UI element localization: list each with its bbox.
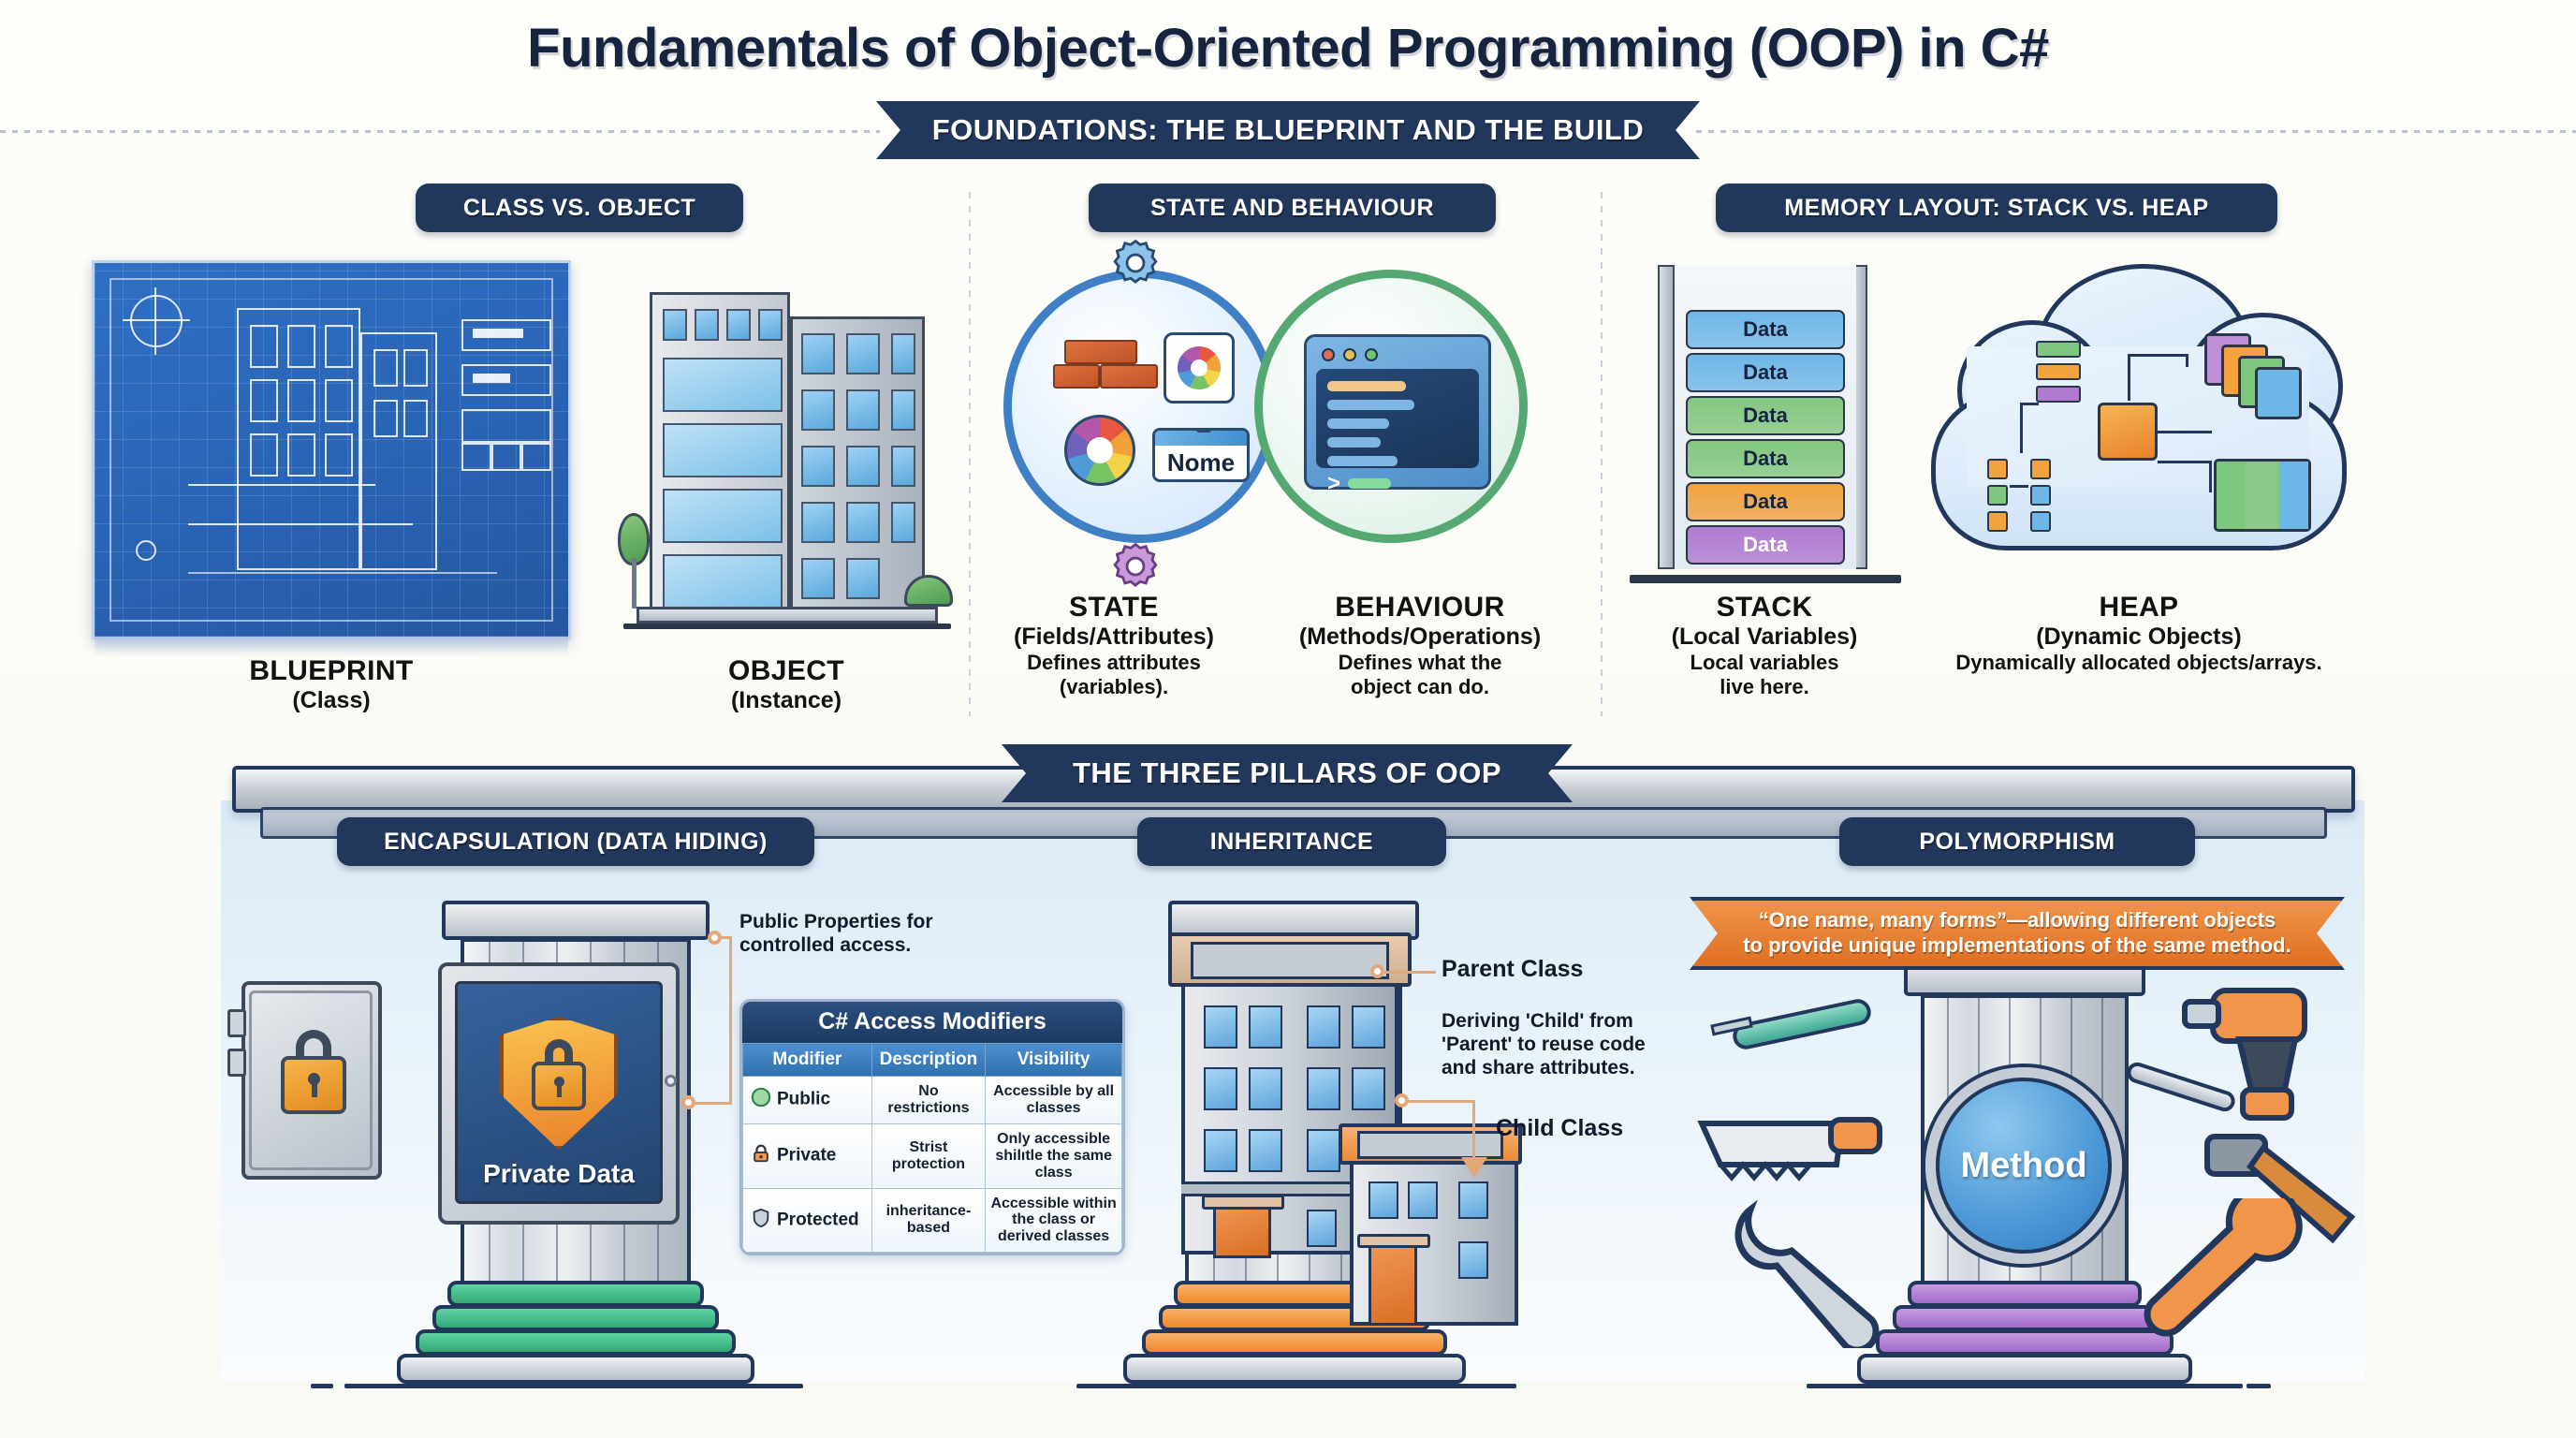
pillar-heading-inheritance: INHERITANCE xyxy=(1137,817,1446,866)
method-badge: Method xyxy=(1925,1067,2122,1264)
access-modifiers-table: C# Access Modifiers Modifier Description… xyxy=(739,999,1125,1255)
leader-line xyxy=(693,1102,732,1105)
caption-object: OBJECT (Instance) xyxy=(618,655,955,714)
name-badge-icon: Nome xyxy=(1152,428,1250,482)
cell-visibility: Accessible within the class or derived c… xyxy=(986,1188,1122,1253)
color-wheel-icon xyxy=(1064,415,1135,486)
private-data-label: Private Data xyxy=(438,1159,680,1189)
stack-block: Data xyxy=(1686,396,1845,435)
leader-knob xyxy=(1395,1093,1409,1108)
cell-description: inheritance-based xyxy=(871,1188,986,1253)
caption-stack: STACK (Local Variables) Local variables … xyxy=(1629,592,1900,698)
dotted-rule-right xyxy=(1696,130,2576,133)
code-window-icon: > xyxy=(1304,334,1491,490)
caption-blueprint: BLUEPRINT (Class) xyxy=(92,655,571,714)
cell-modifier: Public xyxy=(743,1077,872,1124)
table-row: Protected inheritance-based Accessible w… xyxy=(743,1188,1122,1253)
callout-public-properties: Public Properties for controlled access. xyxy=(739,910,1011,957)
cell-modifier: Private xyxy=(743,1123,872,1188)
stack-block: Data xyxy=(1686,353,1845,392)
banner-three-pillars: THE THREE PILLARS OF OOP xyxy=(1002,744,1573,802)
caption-behaviour: BEHAVIOUR (Methods/Operations) Defines w… xyxy=(1266,592,1574,698)
stack-block: Data xyxy=(1686,525,1845,565)
cell-visibility: Accessible by all classes xyxy=(986,1077,1122,1124)
callout-inheritance-desc: Deriving 'Child' from 'Parent' to reuse … xyxy=(1442,1009,1722,1080)
pillar-heading-encapsulation: ENCAPSULATION (DATA HIDING) xyxy=(337,817,814,866)
gear-icon xyxy=(1109,540,1162,593)
parent-door xyxy=(1213,1206,1271,1258)
caption-state: STATE (Fields/Attributes) Defines attrib… xyxy=(973,592,1254,698)
callout-child-class: Child Class xyxy=(1496,1114,1720,1142)
polymorphism-ribbon: “One name, many forms”—allowing differen… xyxy=(1690,897,2345,970)
leader-line xyxy=(1408,1100,1475,1103)
section-heading-state-and-behaviour: STATE AND BEHAVIOUR xyxy=(1089,183,1496,232)
section-heading-memory-layout: MEMORY LAYOUT: STACK VS. HEAP xyxy=(1716,183,2277,232)
shield-icon xyxy=(751,1208,771,1233)
infographic-root: Fundamentals of Object-Oriented Programm… xyxy=(0,0,2576,1438)
table-header-row: Modifier Description Visibility xyxy=(743,1044,1122,1077)
cell-description: No restrictions xyxy=(871,1077,986,1124)
pillar-heading-polymorphism: POLYMORPHISM xyxy=(1839,817,2195,866)
object-building-illustration xyxy=(618,271,955,641)
gear-icon xyxy=(1109,237,1162,289)
stack-illustration: Data Data Data Data Data Data xyxy=(1643,265,1888,583)
blueprint-illustration xyxy=(92,260,571,639)
leader-line xyxy=(1472,1100,1475,1164)
lock-icon xyxy=(751,1143,771,1168)
column-header-modifier: Modifier xyxy=(743,1044,872,1077)
leader-knob xyxy=(708,931,722,945)
cell-description: Strist protection xyxy=(871,1123,986,1188)
callout-parent-class: Parent Class xyxy=(1442,955,1722,983)
leader-arrow xyxy=(1461,1157,1487,1178)
column-header-description: Description xyxy=(871,1044,986,1077)
column-header-visibility: Visibility xyxy=(986,1044,1122,1077)
child-door xyxy=(1368,1245,1417,1326)
leader-line xyxy=(729,936,732,1105)
divider-left xyxy=(969,192,971,716)
cell-visibility: Only accessible shilıtle the same class xyxy=(986,1123,1122,1188)
state-circle: Nome xyxy=(1003,270,1277,543)
stack-block: Data xyxy=(1686,439,1845,478)
dotted-rule-left xyxy=(0,130,880,133)
behaviour-circle: > xyxy=(1254,270,1528,543)
circle-green-icon xyxy=(751,1087,771,1112)
divider-right xyxy=(1601,192,1603,716)
table-title: C# Access Modifiers xyxy=(742,1002,1122,1043)
wrench-icon xyxy=(1722,1189,1900,1348)
page-title: Fundamentals of Object-Oriented Programm… xyxy=(0,17,2576,80)
table-row: Private Strist protection Only accessibl… xyxy=(743,1123,1122,1188)
leader-line xyxy=(1383,971,1436,974)
table-row: Public No restrictions Accessible by all… xyxy=(743,1077,1122,1124)
heap-cloud-illustration xyxy=(1924,260,2354,579)
stack-block: Data xyxy=(1686,310,1845,349)
caption-heap: HEAP (Dynamic Objects) Dynamically alloc… xyxy=(1900,592,2378,675)
stack-block: Data xyxy=(1686,482,1845,521)
banner-foundations: FOUNDATIONS: THE BLUEPRINT AND THE BUILD xyxy=(876,101,1700,159)
cell-modifier: Protected xyxy=(743,1188,872,1253)
color-palette-card-icon xyxy=(1164,332,1235,404)
drill-icon xyxy=(2181,974,2331,1133)
leader-knob xyxy=(1370,964,1384,978)
wrench-icon xyxy=(2144,1198,2312,1348)
leader-knob xyxy=(681,1095,695,1109)
section-heading-class-vs-object: CLASS VS. OBJECT xyxy=(416,183,743,232)
